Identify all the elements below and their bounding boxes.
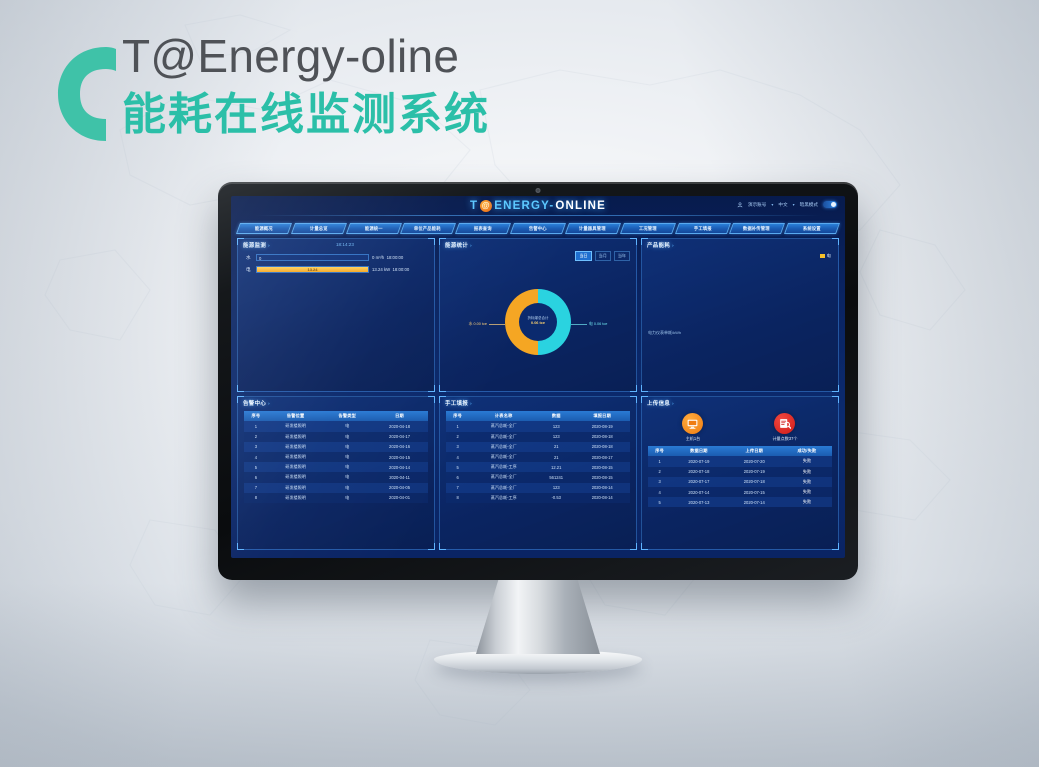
cell: 2020-07-18: [671, 467, 726, 477]
meter-row-water: 水 0 0 m³/h 18:00:00: [246, 254, 426, 261]
cell: 5: [446, 462, 469, 472]
manual-col-0: 序号: [446, 411, 469, 421]
upload-col-0: 序号: [648, 446, 671, 456]
cell: 2020-04-05: [371, 483, 428, 493]
cell: 研发楼照明: [268, 472, 324, 482]
cell: 2020-04-11: [371, 472, 428, 482]
cell: 561241: [538, 472, 574, 482]
water-time: 18:00:00: [387, 255, 404, 260]
meter-label-electricity: 电: [246, 267, 253, 273]
nav-label-2: 能源统一: [365, 226, 383, 232]
table-row[interactable]: 5蒸汽总耗-工序12.212020-08-15: [446, 462, 630, 472]
cell: 研发楼照明: [268, 442, 324, 452]
cell: 5: [648, 497, 671, 507]
donut-center-line2: 0.06 tce: [531, 321, 545, 327]
nav-label-8: 手工填报: [693, 226, 711, 232]
cell: 2020-08-15: [574, 472, 630, 482]
cell: 1: [446, 421, 469, 431]
cell: 蒸汽总耗-工序: [469, 462, 538, 472]
nav-label-6: 计量器具管理: [579, 226, 606, 232]
panel-title-energy-monitor: 能源监测›: [243, 241, 270, 249]
nav-item-6[interactable]: 计量器具管理: [565, 223, 621, 234]
cell: 7: [446, 483, 469, 493]
dashboard-header: T @ ENERGY- ONLINE 演示账号 ▾ 中文 ▾: [231, 196, 845, 222]
cell: 蒸汽总耗-全厂: [469, 421, 538, 431]
upload-info-tbody: 12020-07-192020-07-20失败 22020-07-182020-…: [648, 456, 832, 507]
monitor: T @ ENERGY- ONLINE 演示账号 ▾ 中文 ▾: [218, 182, 858, 674]
nav-item-3[interactable]: 单位产品能耗: [400, 223, 456, 234]
document-search-icon: [774, 413, 795, 434]
cell: 蒸汽总耗-全厂: [469, 432, 538, 442]
product-energy-legend[interactable]: 电: [820, 253, 831, 259]
donut-label-water: 水 0.00 tce: [469, 322, 505, 327]
table-row[interactable]: 3蒸汽总耗-全厂212020-08-18: [446, 442, 630, 452]
table-row[interactable]: 7蒸汽总耗-全厂1232020-08-14: [446, 483, 630, 493]
upload-info-title-text: 上传信息: [647, 401, 670, 407]
nav-item-4[interactable]: 报表查询: [455, 223, 511, 234]
upload-col-3: 成功/失败: [782, 446, 832, 456]
panel-title-manual-entry: 手工填报›: [445, 399, 472, 407]
cell: 4: [446, 452, 469, 462]
cell: 123: [538, 483, 574, 493]
alarm-col-1: 告警位置: [268, 411, 324, 421]
cell: 2020-07-14: [727, 497, 782, 507]
panel-upload-info: 上传信息›: [641, 396, 839, 550]
water-reading: 0 m³/h: [372, 255, 384, 260]
language-menu[interactable]: 中文: [778, 202, 787, 208]
cell: 2020-08-18: [574, 432, 630, 442]
cell: 4: [648, 487, 671, 497]
cell: 2020-08-19: [574, 421, 630, 431]
cell: 5: [244, 462, 268, 472]
cell: 2020-07-14: [671, 487, 726, 497]
nav-label-7: 工况管理: [639, 226, 657, 232]
cell: 2020-07-15: [727, 487, 782, 497]
cell: 2: [446, 432, 469, 442]
upload-col-2: 上传日期: [727, 446, 782, 456]
cell: 电: [323, 462, 371, 472]
cell: 研发楼照明: [268, 432, 324, 442]
panel-energy-monitor: 能源监测› 18:14:23 水 0 0 m³/h 18:00:00: [237, 238, 435, 392]
cell: 电: [323, 452, 371, 462]
product-energy-axis-label: 电力仪表单耗/kWh: [648, 330, 681, 336]
more-icon-product-energy[interactable]: ›: [672, 243, 674, 248]
c-logo-icon: [54, 41, 120, 147]
cell: 2020-07-17: [671, 477, 726, 487]
more-icon-manual-entry[interactable]: ›: [470, 401, 472, 406]
energy-monitor-title-text: 能源监测: [243, 243, 266, 249]
table-row[interactable]: 7研发楼照明电2020-04-05: [244, 483, 428, 493]
cell: 123: [538, 421, 574, 431]
legend-label-electricity: 电: [827, 253, 831, 259]
cell: 2020-07-18: [727, 477, 782, 487]
main-nav: 能源概况 计量总览 能源统一 单位产品能耗 报表查询 告警中心 计量器具管理 工…: [231, 223, 845, 234]
host-computer-icon: [682, 413, 703, 434]
dashboard: T @ ENERGY- ONLINE 演示账号 ▾ 中文 ▾: [231, 196, 845, 558]
table-row[interactable]: 1蒸汽总耗-全厂1232020-08-19: [446, 421, 630, 431]
cell: 6: [446, 472, 469, 482]
status-badge: 失败: [782, 497, 832, 507]
nav-item-10[interactable]: 系统设置: [784, 223, 840, 234]
meter-reading-water: 0 m³/h 18:00:00: [372, 255, 426, 260]
table-row[interactable]: 1研发楼照明电2020-04-18: [244, 421, 428, 431]
user-name[interactable]: 演示账号: [748, 202, 766, 208]
cell: 2020-07-19: [671, 456, 726, 466]
cell: 研发楼照明: [268, 483, 324, 493]
panel-product-energy: 产品能耗› 电 电力仪表单耗/kWh: [641, 238, 839, 392]
status-badge: 失败: [782, 467, 832, 477]
table-row[interactable]: 4研发楼照明电2020-04-15: [244, 452, 428, 462]
cell: 蒸汽总耗-全厂: [469, 472, 538, 482]
badge-host-label: 主机1台: [682, 436, 703, 442]
header-divider: [255, 215, 821, 216]
cell: 研发楼照明: [268, 452, 324, 462]
at-sign-icon: @: [480, 200, 492, 212]
cell: 2020-08-18: [574, 442, 630, 452]
donut-label-water-text: 水 0.00 tce: [469, 322, 487, 327]
meter-reading-electricity: 13.24 kW 18:00:00: [372, 267, 426, 272]
cell: 1: [648, 456, 671, 466]
manual-entry-tbody: 1蒸汽总耗-全厂1232020-08-19 2蒸汽总耗-全厂1232020-08…: [446, 421, 630, 503]
badge-meter-points[interactable]: 计量点数37个: [772, 413, 797, 442]
cell: 4: [244, 452, 268, 462]
nav-item-7[interactable]: 工况管理: [620, 223, 676, 234]
cell: 2020-04-01: [371, 493, 428, 503]
title-prefix: T: [470, 200, 478, 212]
nav-item-9[interactable]: 数据补传管理: [729, 223, 785, 234]
more-icon-upload-info[interactable]: ›: [672, 401, 674, 406]
table-row[interactable]: 8蒸汽总耗-工序-0.532020-08-14: [446, 493, 630, 503]
meter-track-electricity: 13.24: [256, 266, 369, 273]
alarm-center-title-text: 告警中心: [243, 401, 266, 407]
dashboard-grid: 能源监测› 18:14:23 水 0 0 m³/h 18:00:00: [231, 234, 845, 556]
nav-label-3: 单位产品能耗: [415, 226, 442, 232]
meter-label-water: 水: [246, 255, 253, 261]
cell: 8: [244, 493, 268, 503]
more-icon-energy-monitor[interactable]: ›: [268, 243, 270, 248]
user-area[interactable]: 演示账号 ▾ 中文 ▾ 暗黑模式: [737, 201, 837, 208]
nav-label-1: 计量总览: [310, 226, 328, 232]
more-icon-alarm-center[interactable]: ›: [268, 401, 270, 406]
donut-center-label: 折标煤总合计 0.06 tce: [505, 289, 571, 355]
nav-label-5: 告警中心: [529, 226, 547, 232]
cell: 2020-07-13: [671, 497, 726, 507]
manual-entry-title-text: 手工填报: [445, 401, 468, 407]
cell: 2020-04-18: [371, 421, 428, 431]
cell: 电: [323, 421, 371, 431]
monitor-stand-neck: [476, 580, 600, 654]
cell: 2020-04-14: [371, 462, 428, 472]
nav-item-2[interactable]: 能源统一: [346, 223, 402, 234]
user-icon: [737, 202, 743, 208]
table-row[interactable]: 12020-07-192020-07-20失败: [648, 456, 832, 466]
badge-host[interactable]: 主机1台: [682, 413, 703, 442]
monitor-bezel: T @ ENERGY- ONLINE 演示账号 ▾ 中文 ▾: [218, 182, 858, 580]
donut-label-electricity-text: 电 0.06 tce: [589, 322, 607, 327]
cell: 12.21: [538, 462, 574, 472]
status-badge: 失败: [782, 456, 832, 466]
table-row[interactable]: 3研发楼照明电2020-04-16: [244, 442, 428, 452]
energy-donut-chart: 折标煤总合计 0.06 tce: [505, 289, 571, 355]
brand-title-english: T@Energy-oline: [122, 25, 490, 87]
electricity-time: 18:00:00: [393, 267, 410, 272]
title-suffix: ONLINE: [555, 200, 606, 212]
upload-info-badges: 主机1台: [648, 413, 832, 442]
panel-alarm-center: 告警中心› 序号 告警位置 告警类型 日期 1研发楼照明电2020-04-18: [237, 396, 435, 550]
manual-col-1: 计表名称: [469, 411, 538, 421]
energy-monitor-clock: 18:14:23: [336, 242, 354, 247]
table-row[interactable]: 52020-07-132020-07-14失败: [648, 497, 832, 507]
cell: 2020-07-20: [727, 456, 782, 466]
cell: 研发楼照明: [268, 462, 324, 472]
status-badge: 失败: [782, 477, 832, 487]
cell: 电: [323, 432, 371, 442]
table-row[interactable]: 2研发楼照明电2020-04-17: [244, 432, 428, 442]
table-row[interactable]: 6蒸汽总耗-全厂5612412020-08-15: [446, 472, 630, 482]
cell: 电: [323, 483, 371, 493]
chevron-down-icon[interactable]: ▾: [771, 202, 773, 207]
product-energy-title-text: 产品能耗: [647, 243, 670, 249]
panel-energy-stats: 能源统计› 当日 当月 当年 水 0.00 tce: [439, 238, 637, 392]
cell: 2020-04-17: [371, 432, 428, 442]
table-row[interactable]: 4蒸汽总耗-全厂212020-08-17: [446, 452, 630, 462]
manual-col-3: 填报日期: [574, 411, 630, 421]
brand-title-chinese: 能耗在线监测系统: [122, 87, 490, 143]
cell: 123: [538, 432, 574, 442]
cell: 1: [244, 421, 268, 431]
table-header-row: 序号 数据日期 上传日期 成功/失败: [648, 446, 832, 456]
panel-title-energy-stats: 能源统计›: [445, 241, 472, 249]
cell: 2: [244, 432, 268, 442]
cell: 2020-04-16: [371, 442, 428, 452]
meter-value-electricity: 13.24: [307, 267, 317, 272]
manual-entry-table: 序号 计表名称 数据 填报日期 1蒸汽总耗-全厂1232020-08-19 2蒸…: [446, 411, 630, 503]
upload-col-1: 数据日期: [671, 446, 726, 456]
panel-manual-entry: 手工填报› 序号 计表名称 数据 填报日期 1蒸汽总耗-全厂1232020-08…: [439, 396, 637, 550]
webcam-icon: [536, 188, 541, 193]
cell: 21: [538, 452, 574, 462]
table-row[interactable]: 22020-07-182020-07-19失败: [648, 467, 832, 477]
table-header-row: 序号 告警位置 告警类型 日期: [244, 411, 428, 421]
energy-stats-donut-wrap: 水 0.00 tce 折标煤总合计 0.06 tce 电 0.06 tce: [446, 253, 630, 390]
brand-lockup: T@Energy-oline 能耗在线监测系统: [50, 25, 490, 143]
cell: 蒸汽总耗-工序: [469, 493, 538, 503]
meter-value-water: 0: [259, 256, 261, 261]
table-row[interactable]: 32020-07-172020-07-18失败: [648, 477, 832, 487]
cell: 2020-08-17: [574, 452, 630, 462]
upload-info-table: 序号 数据日期 上传日期 成功/失败 12020-07-192020-07-20…: [648, 446, 832, 507]
cell: 2020-08-14: [574, 483, 630, 493]
monitor-screen: T @ ENERGY- ONLINE 演示账号 ▾ 中文 ▾: [231, 196, 845, 558]
cell: 3: [244, 442, 268, 452]
table-row[interactable]: 6研发楼照明电2020-04-11: [244, 472, 428, 482]
table-header-row: 序号 计表名称 数据 填报日期: [446, 411, 630, 421]
title-main: ENERGY-: [494, 200, 554, 212]
cell: 2020-08-14: [574, 493, 630, 503]
more-icon-energy-stats[interactable]: ›: [470, 243, 472, 248]
electricity-reading: 13.24 kW: [372, 267, 390, 272]
table-row[interactable]: 5研发楼照明电2020-04-14: [244, 462, 428, 472]
alarm-center-table: 序号 告警位置 告警类型 日期 1研发楼照明电2020-04-18 2研发楼照明…: [244, 411, 428, 503]
panel-title-alarm-center: 告警中心›: [243, 399, 270, 407]
table-row[interactable]: 42020-07-142020-07-15失败: [648, 487, 832, 497]
panel-title-product-energy: 产品能耗›: [647, 241, 674, 249]
chevron-down-icon-2[interactable]: ▾: [793, 202, 795, 207]
cell: 3: [446, 442, 469, 452]
dashboard-title: T @ ENERGY- ONLINE: [470, 200, 606, 212]
theme-toggle-label: 暗黑模式: [800, 202, 818, 208]
donut-label-electricity: 电 0.06 tce: [571, 322, 607, 327]
alarm-col-3: 日期: [371, 411, 428, 421]
cell: 研发楼照明: [268, 493, 324, 503]
cell: 蒸汽总耗-全厂: [469, 442, 538, 452]
legend-swatch-electricity: [820, 254, 825, 258]
nav-item-1[interactable]: 计量总览: [291, 223, 347, 234]
alarm-center-tbody: 1研发楼照明电2020-04-18 2研发楼照明电2020-04-17 3研发楼…: [244, 421, 428, 503]
theme-toggle[interactable]: [823, 201, 837, 208]
nav-item-8[interactable]: 手工填报: [674, 223, 730, 234]
nav-item-0[interactable]: 能源概况: [236, 223, 292, 234]
nav-item-5[interactable]: 告警中心: [510, 223, 566, 234]
cell: 2020-04-15: [371, 452, 428, 462]
status-badge: 失败: [782, 487, 832, 497]
badge-meter-points-label: 计量点数37个: [772, 436, 797, 442]
table-row[interactable]: 2蒸汽总耗-全厂1232020-08-18: [446, 432, 630, 442]
panel-title-upload-info: 上传信息›: [647, 399, 674, 407]
cell: 研发楼照明: [268, 421, 324, 431]
cell: 3: [648, 477, 671, 487]
cell: 6: [244, 472, 268, 482]
meter-row-electricity: 电 13.24 13.24 kW 18:00:00: [246, 266, 426, 273]
cell: 7: [244, 483, 268, 493]
table-row[interactable]: 8研发楼照明电2020-04-01: [244, 493, 428, 503]
cell: 2020-07-19: [727, 467, 782, 477]
energy-stats-title-text: 能源统计: [445, 243, 468, 249]
meter-track-water: 0: [256, 254, 369, 261]
cell: 21: [538, 442, 574, 452]
nav-label-4: 报表查询: [474, 226, 492, 232]
nav-label-10: 系统设置: [803, 226, 821, 232]
alarm-col-2: 告警类型: [323, 411, 371, 421]
alarm-col-0: 序号: [244, 411, 268, 421]
nav-label-9: 数据补传管理: [744, 226, 771, 232]
cell: 2: [648, 467, 671, 477]
nav-label-0: 能源概况: [255, 226, 273, 232]
cell: 8: [446, 493, 469, 503]
cell: 蒸汽总耗-全厂: [469, 452, 538, 462]
cell: 电: [323, 442, 371, 452]
cell: 蒸汽总耗-全厂: [469, 483, 538, 493]
cell: -0.53: [538, 493, 574, 503]
manual-col-2: 数据: [538, 411, 574, 421]
cell: 电: [323, 493, 371, 503]
cell: 电: [323, 472, 371, 482]
cell: 2020-08-15: [574, 462, 630, 472]
